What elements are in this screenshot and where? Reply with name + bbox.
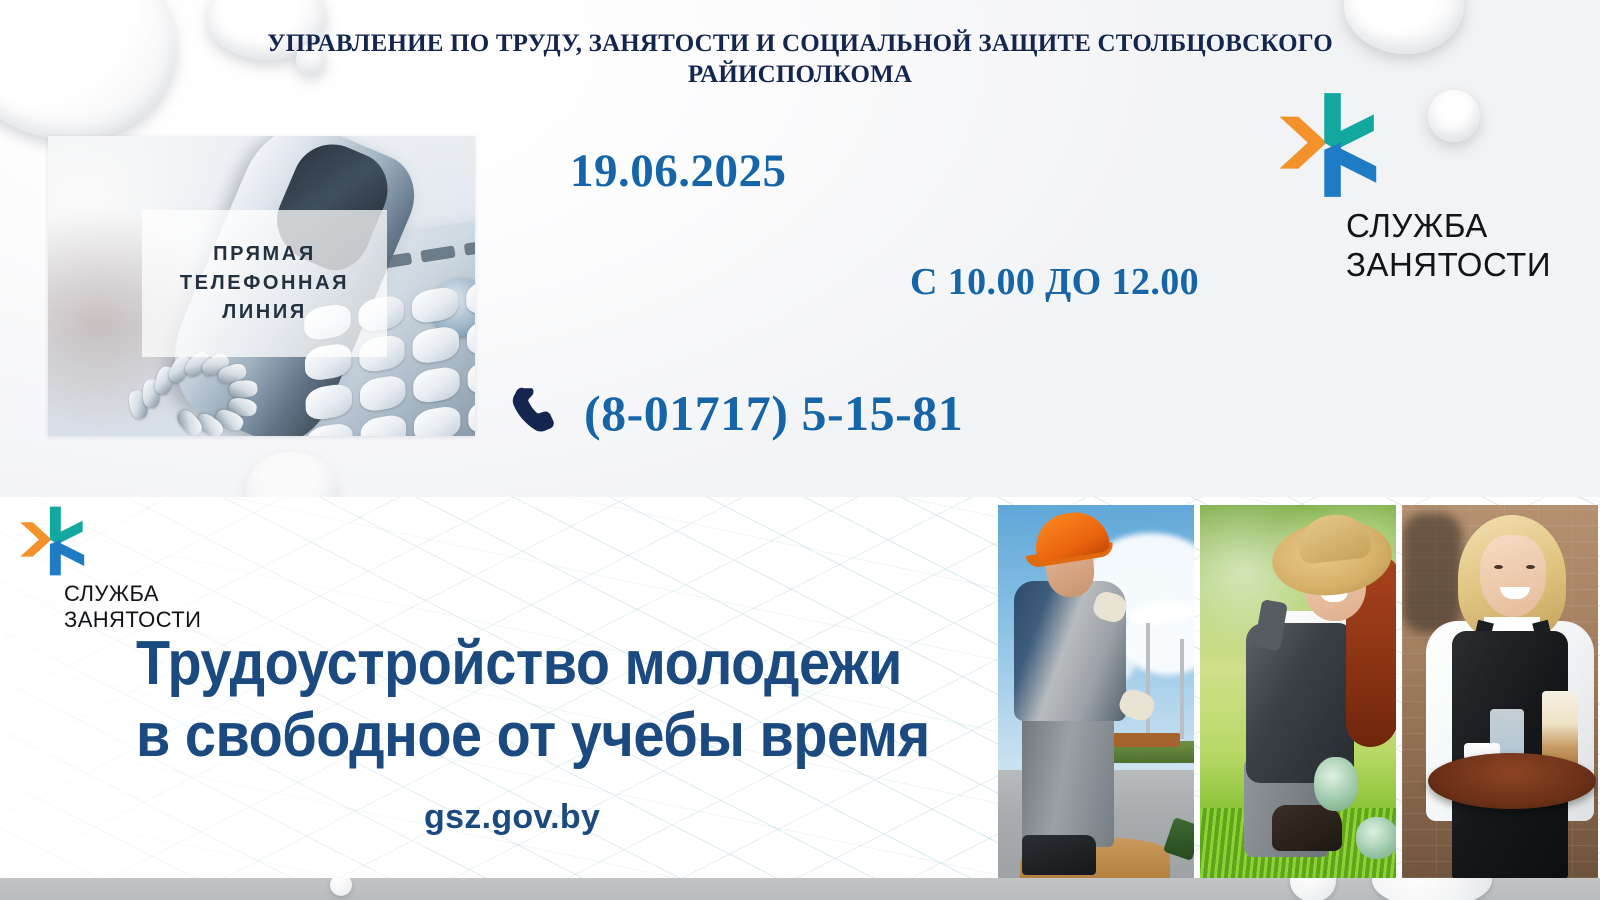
- bubble-decoration-icon: [246, 452, 336, 497]
- hotline-caption-overlay: ПРЯМАЯ ТЕЛЕФОННАЯ ЛИНИЯ: [142, 210, 387, 357]
- photo-worker-legs: [1022, 713, 1114, 847]
- hotline-phone-number: (8-01717) 5-15-81: [584, 384, 963, 442]
- bubble-decoration-icon: [1290, 878, 1336, 900]
- photo-gardener-shoe: [1272, 805, 1342, 851]
- brand-name: СЛУЖБА ЗАНЯТОСТИ: [1346, 206, 1580, 284]
- photo-eye: [1494, 565, 1503, 569]
- hotline-date: 19.06.2025: [570, 144, 787, 198]
- hotline-phone-row: (8-01717) 5-15-81: [508, 382, 963, 444]
- photo-serving-tray: [1428, 753, 1596, 809]
- photo-worker-boots: [1022, 835, 1096, 875]
- bubble-decoration-icon: [330, 878, 352, 896]
- banner-headline: Трудоустройство молодежи в свободное от …: [136, 628, 930, 772]
- banner-photo-strip: [998, 505, 1600, 878]
- phone-handset-icon: [508, 382, 570, 444]
- upper-section: УПРАВЛЕНИЕ ПО ТРУДУ, ЗАНЯТОСТИ И СОЦИАЛЬ…: [0, 0, 1600, 497]
- banner-website-url[interactable]: gsz.gov.by: [424, 798, 600, 837]
- brand-logo-top: СЛУЖБА ЗАНЯТОСТИ: [1270, 86, 1580, 284]
- photo-lamp-post: [1180, 639, 1184, 739]
- bubble-decoration-icon: [1344, 0, 1464, 54]
- employment-service-star-icon: [1270, 86, 1388, 204]
- photo-gardening-glove: [1356, 817, 1396, 859]
- hotline-time-range: С 10.00 ДО 12.00: [910, 260, 1199, 304]
- photo-lamp-post: [1146, 623, 1150, 741]
- photo-young-gardener: [1200, 505, 1396, 878]
- organization-title: УПРАВЛЕНИЕ ПО ТРУДУ, ЗАНЯТОСТИ И СОЦИАЛЬ…: [250, 28, 1350, 90]
- photo-waitress-face: [1480, 535, 1546, 617]
- photo-bokeh: [1402, 513, 1462, 633]
- photo-young-waitress: [1402, 505, 1598, 878]
- hotline-phone-photo: ПРЯМАЯ ТЕЛЕФОННАЯ ЛИНИЯ: [48, 136, 475, 436]
- photo-eye: [1526, 565, 1535, 569]
- employment-service-star-icon: [14, 502, 92, 580]
- bubble-decoration-icon: [1372, 878, 1492, 900]
- hotline-caption-text: ПРЯМАЯ ТЕЛЕФОННАЯ ЛИНИЯ: [180, 240, 349, 327]
- poster-canvas: УПРАВЛЕНИЕ ПО ТРУДУ, ЗАНЯТОСТИ И СОЦИАЛЬ…: [0, 0, 1600, 900]
- photo-young-worker-sweeping: [998, 505, 1194, 878]
- photo-gardening-glove: [1314, 757, 1358, 811]
- bubble-decoration-icon: [0, 0, 176, 140]
- brand-logo-banner: СЛУЖБА ЗАНЯТОСТИ: [14, 502, 201, 633]
- bottom-strip: [0, 878, 1600, 900]
- brand-name: СЛУЖБА ЗАНЯТОСТИ: [64, 581, 201, 633]
